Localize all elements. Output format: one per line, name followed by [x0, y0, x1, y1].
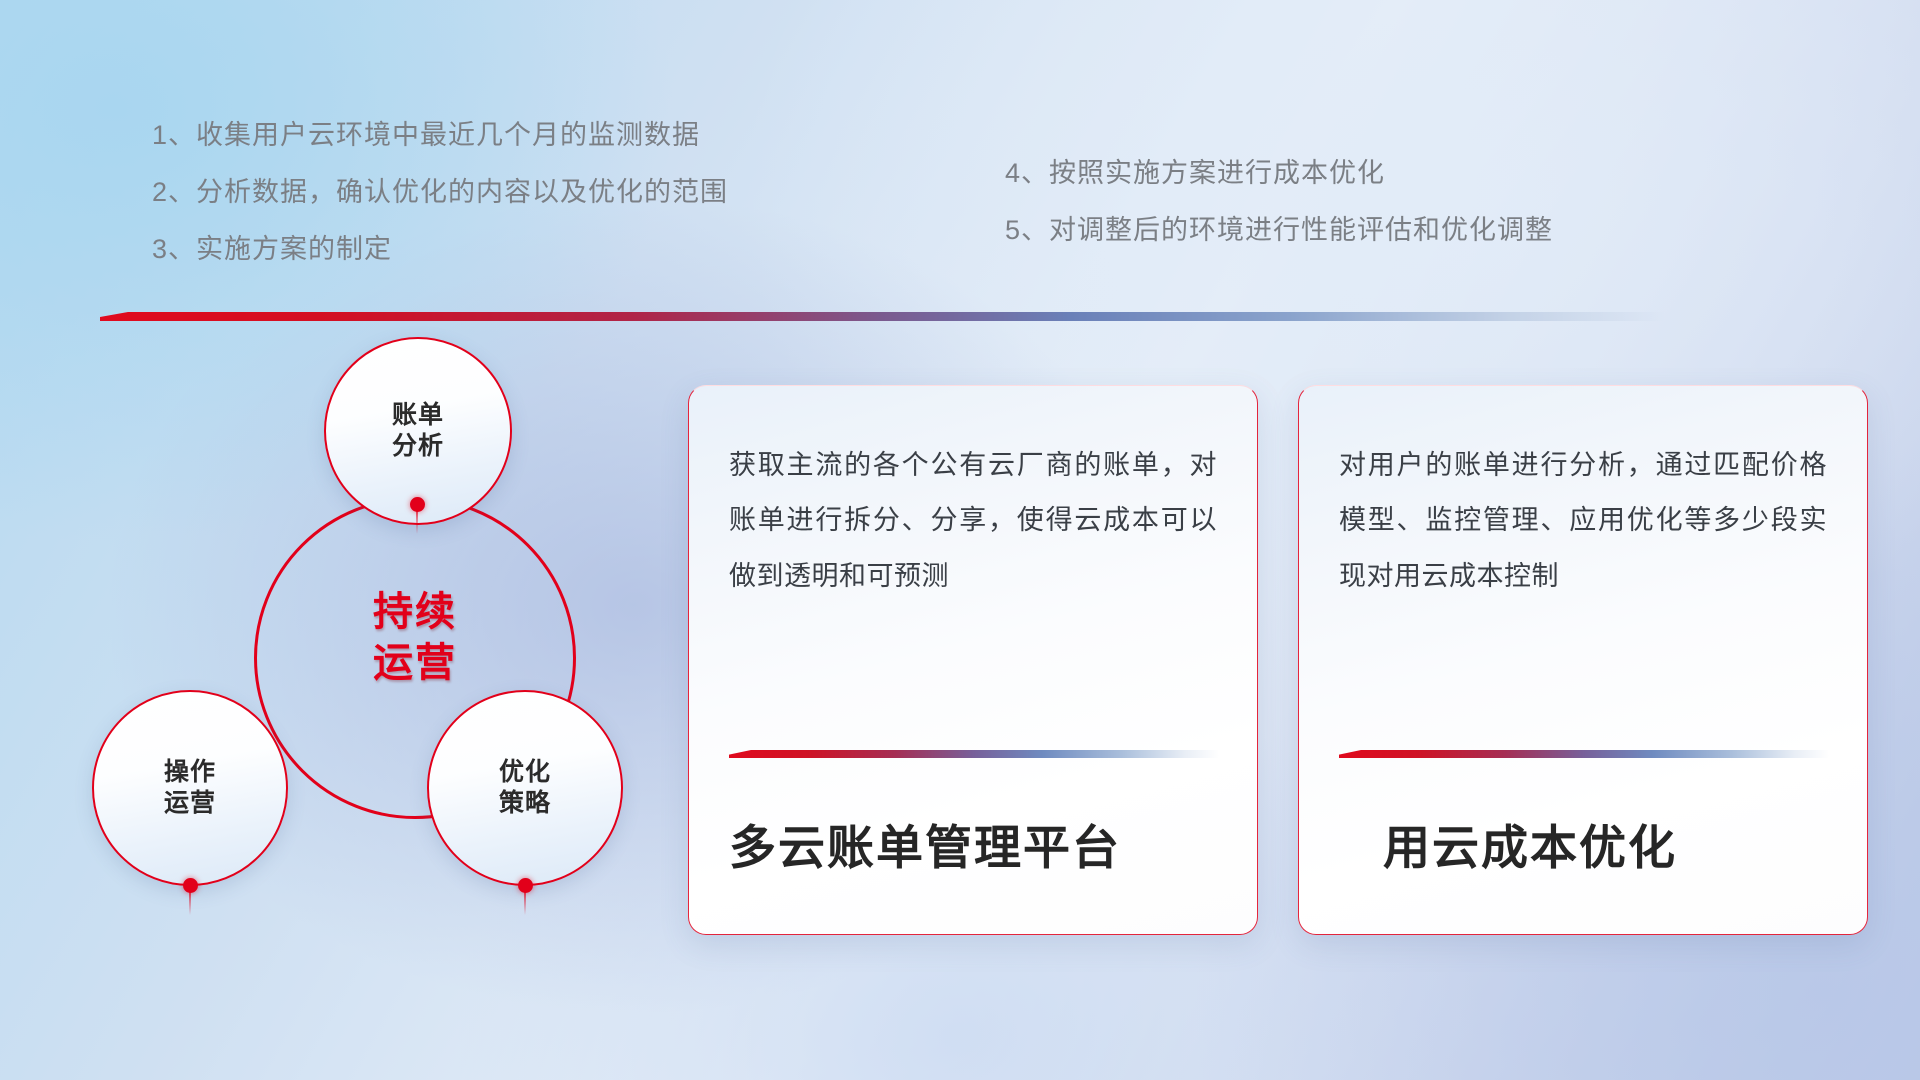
bubble-label-line-2: 运营: [164, 788, 216, 819]
step-item: 1、收集用户云环境中最近几个月的监测数据: [152, 122, 728, 149]
connector-dot-right: [518, 878, 533, 893]
venn-bubble-operations[interactable]: 操作 运营: [92, 690, 288, 886]
card-title: 用云成本优化: [1383, 809, 1677, 878]
card-body-text: 获取主流的各个公有云厂商的账单，对账单进行拆分、分享，使得云成本可以做到透明和可…: [729, 438, 1217, 604]
venn-center-line-2: 运营: [254, 638, 576, 689]
step-item: 2、分析数据，确认优化的内容以及优化的范围: [152, 179, 728, 206]
card-divider: [1339, 750, 1829, 758]
steps-list-right: 4、按照实施方案进行成本优化 5、对调整后的环境进行性能评估和优化调整: [1005, 160, 1553, 244]
feature-card-cost-optimization[interactable]: 对用户的账单进行分析，通过匹配价格模型、监控管理、应用优化等多少段实现对用云成本…: [1298, 385, 1868, 935]
venn-center-line-1: 持续: [254, 587, 576, 638]
step-item: 4、按照实施方案进行成本优化: [1005, 160, 1553, 187]
steps-list-left: 1、收集用户云环境中最近几个月的监测数据 2、分析数据，确认优化的内容以及优化的…: [152, 122, 728, 263]
step-item: 5、对调整后的环境进行性能评估和优化调整: [1005, 217, 1553, 244]
step-item: 3、实施方案的制定: [152, 236, 728, 263]
bubble-label-line-2: 分析: [392, 431, 444, 462]
card-body-text: 对用户的账单进行分析，通过匹配价格模型、监控管理、应用优化等多少段实现对用云成本…: [1339, 438, 1827, 604]
card-divider: [729, 750, 1219, 758]
bubble-label-line-1: 操作: [164, 757, 216, 788]
bubble-label-line-1: 优化: [499, 757, 551, 788]
connector-dot-left: [183, 878, 198, 893]
feature-card-multicloud-billing[interactable]: 获取主流的各个公有云厂商的账单，对账单进行拆分、分享，使得云成本可以做到透明和可…: [688, 385, 1258, 935]
section-divider: [100, 312, 1665, 321]
venn-center-label: 持续 运营: [254, 587, 576, 689]
venn-bubble-optimization-strategy[interactable]: 优化 策略: [427, 690, 623, 886]
connector-dot-top: [410, 497, 425, 512]
card-title: 多云账单管理平台: [729, 809, 1121, 878]
bubble-label-line-2: 策略: [499, 788, 551, 819]
bubble-label-line-1: 账单: [392, 400, 444, 431]
slide-canvas: 1、收集用户云环境中最近几个月的监测数据 2、分析数据，确认优化的内容以及优化的…: [0, 0, 1920, 1080]
venn-diagram: 持续 运营 账单 分析 操作 运营 优化 策略: [92, 345, 662, 965]
